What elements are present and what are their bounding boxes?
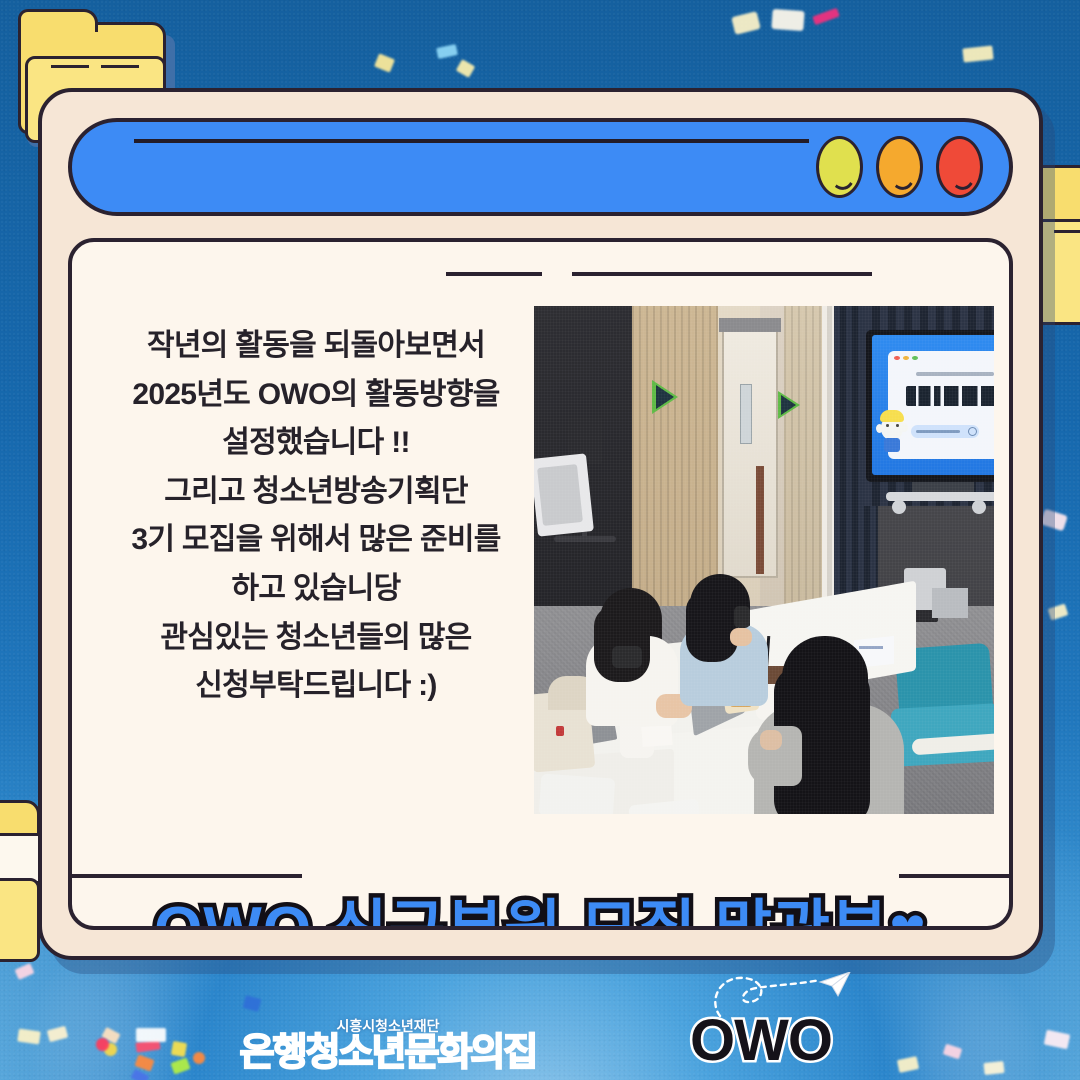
foundation-logo-outline-part: 은행청소년 (240, 1032, 405, 1074)
window-content-panel: 작년의 활동을 되돌아보면서 2025년도 OWO의 활동방향을 설정했습니다 … (68, 238, 1013, 930)
poster-content-row: 작년의 활동을 되돌아보면서 2025년도 OWO의 활동방향을 설정했습니다 … (72, 306, 1009, 814)
body-line: 그리고 청소년방송기획단 (100, 468, 532, 517)
body-line: 신청부탁드립니다 :) (100, 662, 532, 711)
foundation-logo-main: 은행청소년문화의집 (228, 1034, 548, 1074)
body-line: 2025년도 OWO의 활동방향을 (100, 371, 532, 420)
body-text-block: 작년의 활동을 되돌아보면서 2025년도 OWO의 활동방향을 설정했습니다 … (72, 306, 532, 814)
body-line: 하고 있습니당 (100, 565, 532, 614)
window-control-buttons[interactable] (816, 136, 983, 198)
owo-logo-text: OWO (690, 1012, 890, 1070)
close-dot[interactable] (936, 136, 983, 198)
titlebar-accent-line (134, 139, 809, 143)
divider-dash-top-right (572, 272, 872, 276)
body-line: 관심있는 청소년들의 많은 (100, 614, 532, 663)
minimize-dot[interactable] (816, 136, 863, 198)
paper-plane-icon (704, 972, 884, 1018)
body-line: 설정했습니다 !! (100, 419, 532, 468)
foundation-logo: 시흥시청소년재단 은행청소년문화의집 (228, 1016, 548, 1074)
foundation-logo-solid-part: 문화의집 (404, 1032, 536, 1074)
meeting-photo (534, 306, 994, 814)
poster-window-card: 작년의 활동을 되돌아보면서 2025년도 OWO의 활동방향을 설정했습니다 … (38, 88, 1043, 960)
divider-dash-top-left (446, 272, 542, 276)
owo-logo: OWO (690, 1012, 890, 1070)
window-titlebar (68, 118, 1013, 216)
body-line: 작년의 활동을 되돌아보면서 (100, 322, 532, 371)
folder-decoration-bottom-left (0, 800, 40, 950)
maximize-dot[interactable] (876, 136, 923, 198)
headline-text: OWO 신규부원 모집 많관부♥ (72, 878, 1009, 930)
headline-label: OWO 신규부원 모집 많관부♥ (154, 895, 927, 930)
body-line: 3기 모집을 위해서 많은 준비를 (100, 516, 532, 565)
